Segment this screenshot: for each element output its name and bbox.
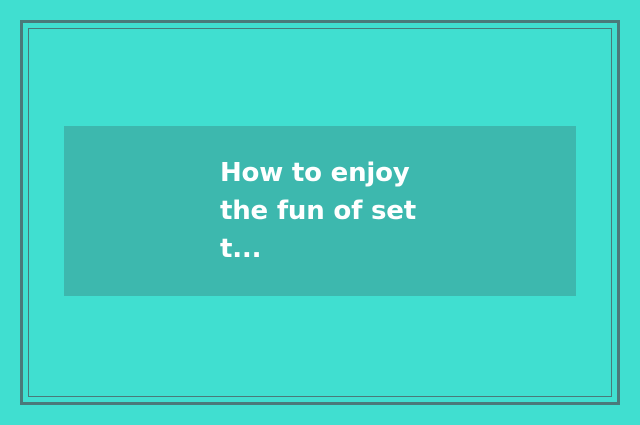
caption-title: How to enjoy the fun of sett...: [220, 154, 420, 268]
caption-panel: How to enjoy the fun of sett...: [64, 126, 576, 296]
card-canvas: How to enjoy the fun of sett...: [0, 0, 640, 425]
